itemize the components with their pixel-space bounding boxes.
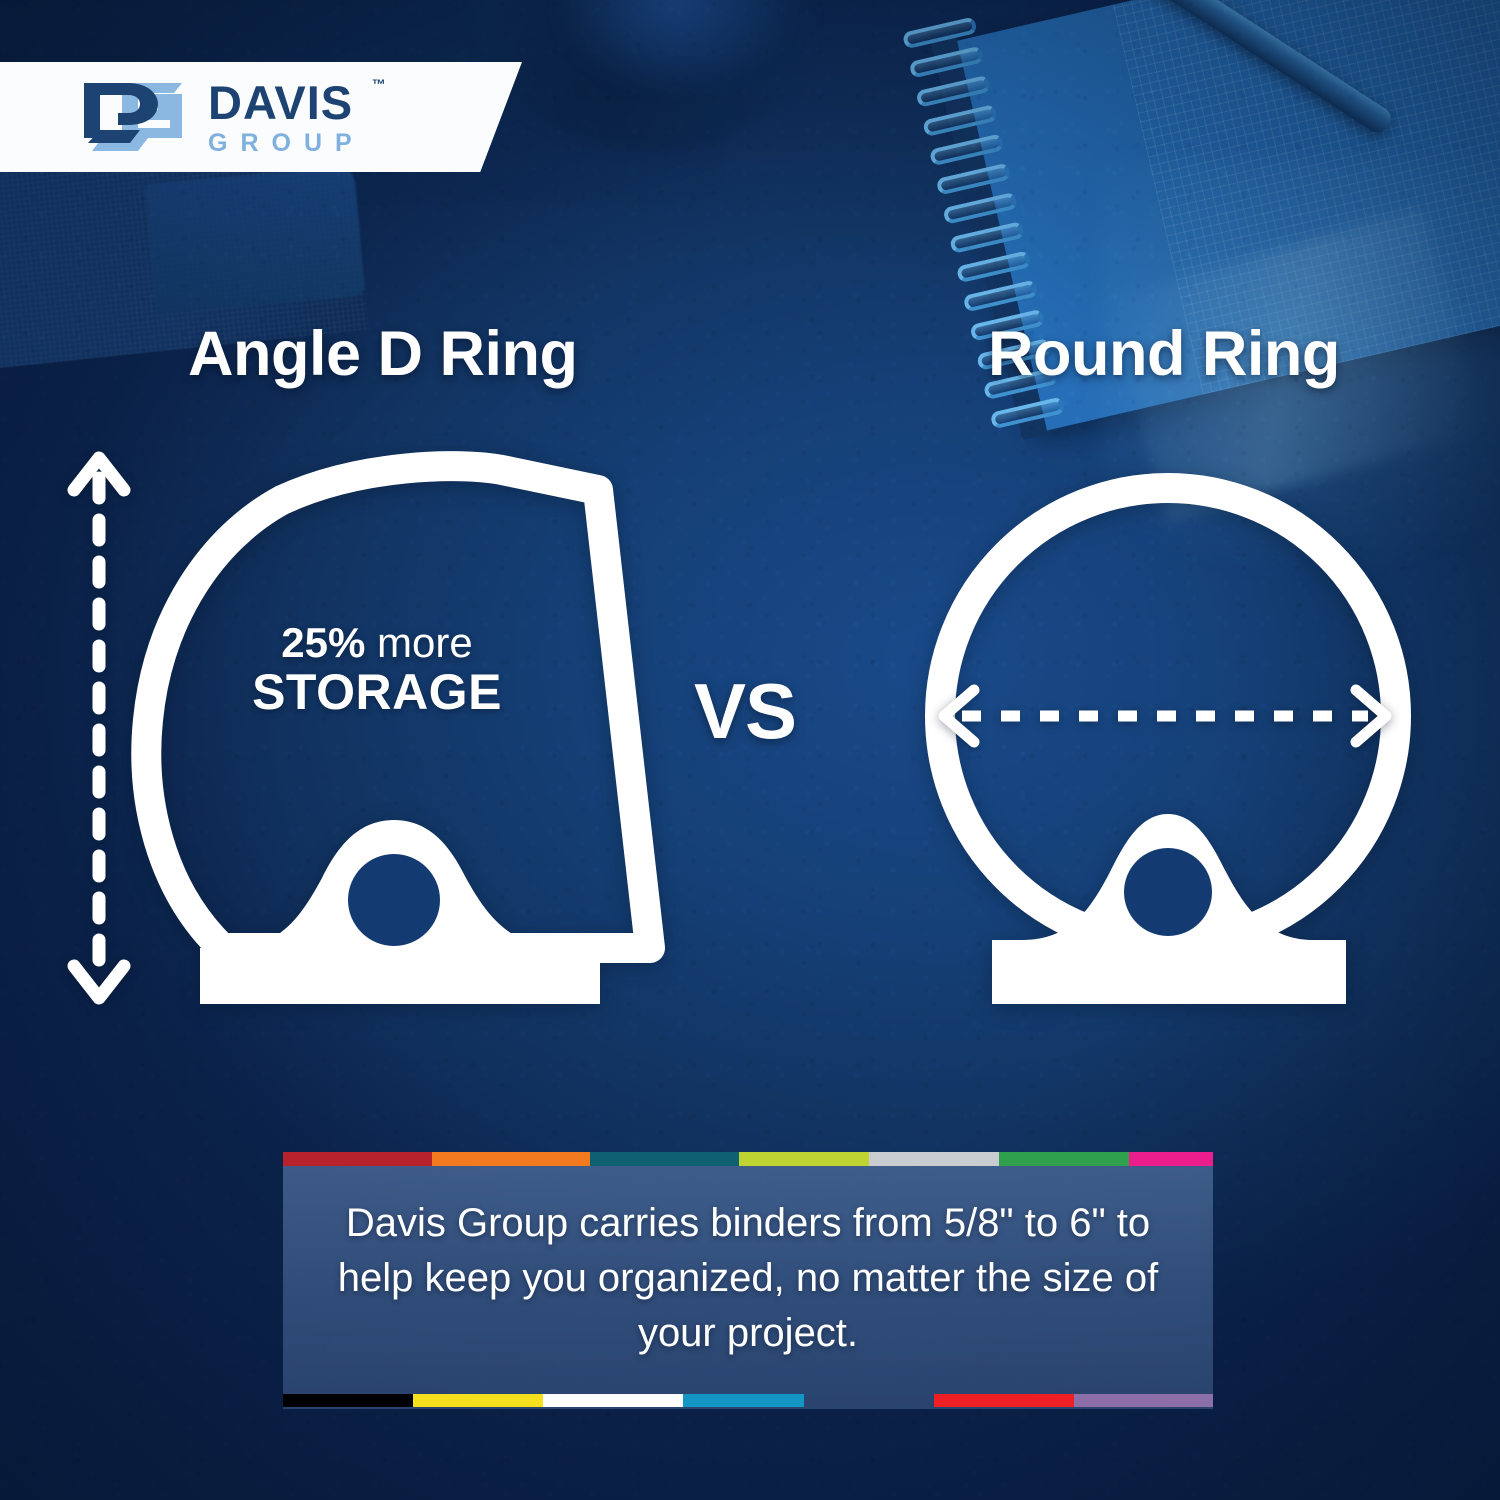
vertical-double-arrow-dashed-icon <box>64 444 134 1012</box>
storage-percent: 25% <box>281 619 365 666</box>
infographic-canvas: DAVIS™ GROUP Angle D Ring Round Ring 25%… <box>0 0 1500 1500</box>
storage-more-word: more <box>365 619 472 666</box>
brand-logo-banner: DAVIS™ GROUP <box>0 62 522 172</box>
color-stripe <box>1129 1152 1213 1166</box>
color-stripe <box>739 1152 869 1166</box>
angle-d-ring-icon <box>130 448 678 1010</box>
dg-monogram-icon <box>78 80 186 154</box>
heading-round-ring: Round Ring <box>988 318 1340 390</box>
banner-bottom-color-stripes <box>283 1394 1213 1407</box>
color-stripe <box>590 1152 739 1166</box>
color-stripe <box>999 1152 1129 1166</box>
logo-sub-name: GROUP <box>208 131 365 156</box>
logo-wordmark: DAVIS™ GROUP <box>208 79 365 156</box>
color-stripe <box>413 1394 543 1407</box>
trademark-symbol: ™ <box>372 77 387 91</box>
color-stripe <box>683 1394 804 1407</box>
color-stripe <box>432 1152 590 1166</box>
color-stripe <box>283 1394 413 1407</box>
logo-brand-name: DAVIS™ <box>208 79 365 126</box>
color-stripe <box>934 1394 1074 1407</box>
color-stripe <box>1074 1394 1214 1407</box>
storage-callout-line-2: STORAGE <box>232 667 522 717</box>
color-stripe <box>869 1152 999 1166</box>
heading-angle-d-ring: Angle D Ring <box>188 318 577 390</box>
banner-message: Davis Group carries binders from 5/8" to… <box>319 1196 1177 1362</box>
color-stripe <box>283 1152 432 1166</box>
color-stripe <box>804 1394 934 1407</box>
versus-label: VS <box>694 666 796 757</box>
storage-callout-line-1: 25% more <box>232 622 522 664</box>
banner-top-color-stripes <box>283 1152 1213 1166</box>
color-stripe <box>543 1394 683 1407</box>
storage-callout: 25% more STORAGE <box>232 622 522 717</box>
bottom-info-banner: Davis Group carries binders from 5/8" to… <box>283 1144 1213 1421</box>
horizontal-double-arrow-dashed-icon <box>930 680 1400 752</box>
